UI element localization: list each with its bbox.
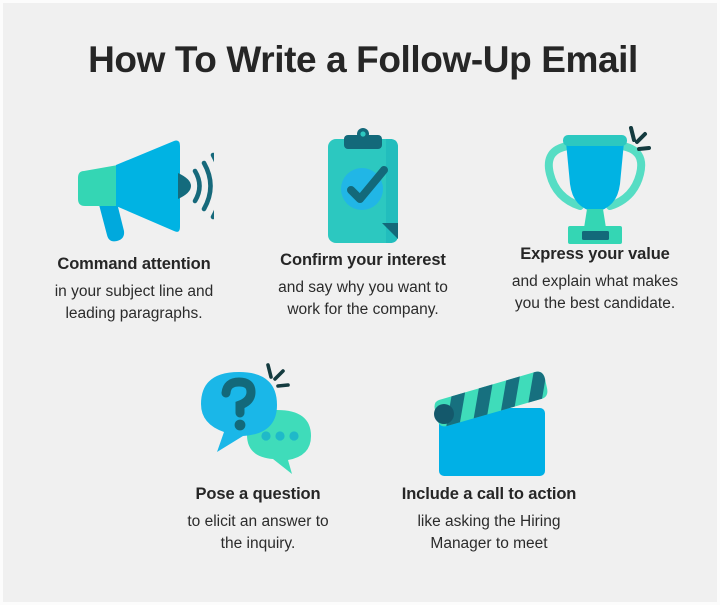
card-heading: Pose a question [143,485,373,504]
step-card-call-to-action: Include a call to action like asking the… [371,361,607,555]
step-card-express-value: Express your value and explain what make… [481,121,709,315]
card-heading: Include a call to action [371,485,607,504]
clapperboard-icon [371,361,607,481]
card-body: like asking the Hiring Manager to meet [371,511,607,555]
speech-bubbles-question-icon [143,361,373,481]
card-body-line: Manager to meet [371,533,607,555]
clipboard-check-icon [255,127,471,247]
card-body-line: and explain what makes [481,271,709,293]
card-body-line: the inquiry. [143,533,373,555]
card-body-line: to elicit an answer to [143,511,373,533]
card-heading: Confirm your interest [255,251,471,270]
megaphone-icon [21,131,247,251]
card-body-line: leading paragraphs. [21,303,247,325]
card-body-line: like asking the Hiring [371,511,607,533]
step-card-pose-question: Pose a question to elicit an answer to t… [143,361,373,555]
card-body-line: in your subject line and [21,281,247,303]
card-body-line: work for the company. [255,299,471,321]
card-body: in your subject line and leading paragra… [21,281,247,325]
card-heading: Command attention [21,255,247,274]
card-heading: Express your value [481,245,709,264]
card-body: and explain what makes you the best cand… [481,271,709,315]
page-title: How To Write a Follow-Up Email [3,39,720,81]
card-body-line: you the best candidate. [481,293,709,315]
card-body: and say why you want to work for the com… [255,277,471,321]
step-card-confirm-interest: Confirm your interest and say why you wa… [255,127,471,321]
trophy-icon [481,121,709,241]
card-body: to elicit an answer to the inquiry. [143,511,373,555]
card-body-line: and say why you want to [255,277,471,299]
step-card-command-attention: Command attention in your subject line a… [21,131,247,325]
infographic-canvas: How To Write a Follow-Up Email Co [0,0,720,605]
